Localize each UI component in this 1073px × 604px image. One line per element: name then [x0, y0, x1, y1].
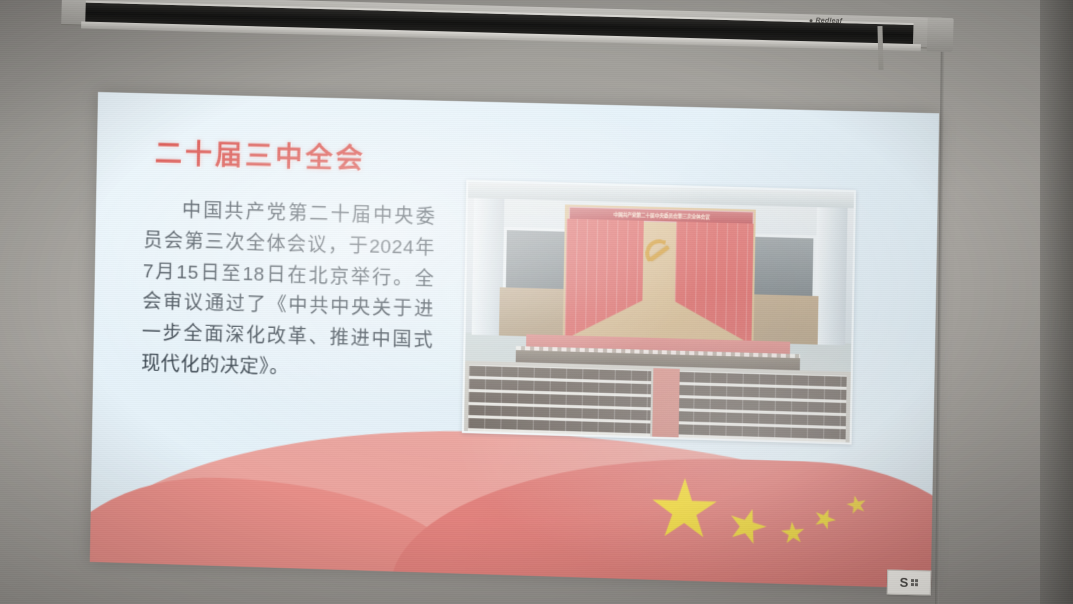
sticker-dot: [911, 583, 914, 586]
sticker-dots-icon: [911, 579, 918, 586]
photo-side-panel-right: [748, 234, 816, 302]
housing-bracket: [877, 26, 883, 70]
star-small-3-icon: [810, 505, 839, 533]
star-small-1-icon: [723, 503, 771, 549]
photo-side-panel-left: [503, 227, 571, 295]
projected-slide: 二十届三中全会 中国共产党第二十届中央委员会第三次全体会议，于2024年7月15…: [90, 92, 939, 589]
projector-brand-label: Redleaf: [809, 17, 842, 25]
wall-corner-edge: [1040, 0, 1073, 604]
sticker-dot: [915, 583, 918, 586]
conference-hall-photo: 中国共产党第二十届中央委员会第三次全体会议: [462, 180, 856, 445]
housing-endcap: [927, 17, 954, 52]
photo-seating-left: [468, 365, 651, 437]
star-small-4-icon: [845, 493, 869, 516]
wall-sticker-label: S: [887, 570, 932, 596]
star-large-icon: [650, 477, 718, 544]
slide-title: 二十届三中全会: [155, 131, 367, 176]
slide-body-text: 中国共产党第二十届中央委员会第三次全体会议，于2024年7月15日至18日在北京…: [141, 195, 436, 388]
photo-center-aisle: [652, 368, 680, 437]
photo-side-wood-right: [750, 294, 818, 344]
photo-banner-text: 中国共产党第二十届中央委员会第三次全体会议: [613, 211, 709, 220]
sticker-dot: [915, 579, 918, 582]
photo-column-right: [815, 207, 848, 345]
sticker-dot: [911, 579, 914, 582]
flag-stars-group: [650, 465, 937, 571]
brand-label-text: Redleaf: [815, 17, 842, 25]
photo-seating-right: [677, 371, 847, 443]
slide-canvas: 二十届三中全会 中国共产党第二十届中央委员会第三次全体会议，于2024年7月15…: [90, 92, 939, 589]
brand-dot-icon: [810, 19, 813, 22]
screenshot-root: Redleaf 二十届三中全会 中国共产党第二十届中央委员会第三次全体会议，于2…: [0, 0, 1073, 604]
hammer-and-sickle-icon: [641, 233, 678, 274]
sticker-glyph: S: [900, 576, 909, 589]
star-small-2-icon: [780, 521, 806, 546]
photo-side-wood-left: [499, 287, 567, 337]
